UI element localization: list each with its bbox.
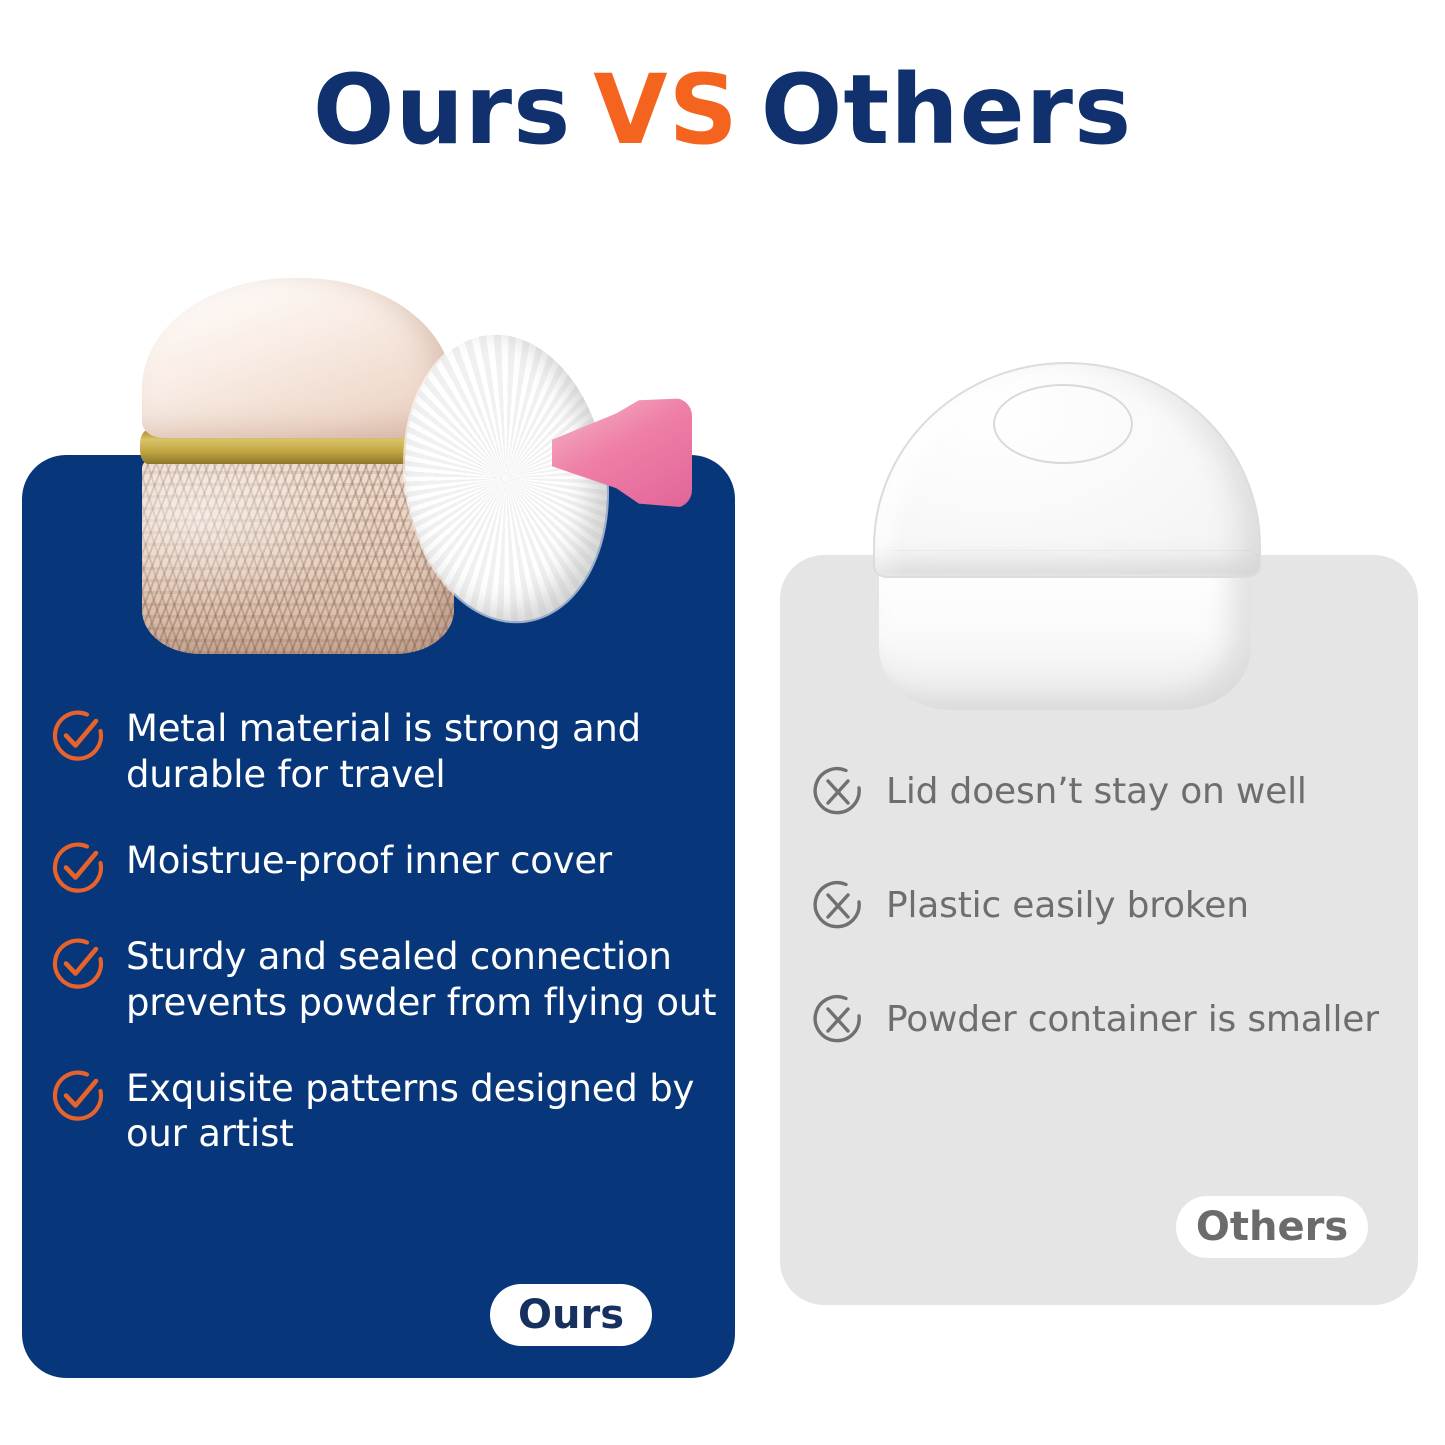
others-badge: Others — [1176, 1196, 1368, 1258]
feature-text: Metal material is strong and durable for… — [126, 706, 720, 798]
clear-dome-lid — [873, 362, 1261, 578]
feature-text: Exquisite patterns designed by our artis… — [126, 1066, 720, 1158]
x-circle-icon — [812, 766, 864, 818]
title-word-vs: VS — [593, 62, 738, 158]
title-word-others: Others — [761, 62, 1132, 158]
list-item: Metal material is strong and durable for… — [52, 706, 720, 798]
list-item: Lid doesn’t stay on well — [812, 766, 1412, 818]
ours-product-image — [120, 272, 700, 692]
plastic-base — [879, 566, 1251, 710]
list-item: Powder container is smaller — [812, 994, 1412, 1046]
others-product-image — [855, 362, 1275, 712]
x-circle-icon — [812, 880, 864, 932]
ours-badge-label: Ours — [518, 1292, 624, 1338]
feature-text: Moistrue-proof inner cover — [126, 838, 612, 884]
check-circle-icon — [52, 936, 106, 990]
check-circle-icon — [52, 708, 106, 762]
check-circle-icon — [52, 1068, 106, 1122]
ours-feature-list: Metal material is strong and durable for… — [52, 706, 720, 1157]
drawback-text: Powder container is smaller — [886, 998, 1379, 1041]
x-circle-icon — [812, 994, 864, 1046]
list-item: Sturdy and sealed connection prevents po… — [52, 934, 720, 1026]
others-badge-label: Others — [1196, 1204, 1348, 1250]
dome-emboss-oval — [993, 384, 1133, 464]
list-item: Plastic easily broken — [812, 880, 1412, 932]
ours-badge: Ours — [490, 1284, 652, 1346]
title-word-ours: Ours — [313, 62, 571, 158]
page-title: OursVSOthers — [0, 62, 1445, 158]
list-item: Moistrue-proof inner cover — [52, 838, 720, 894]
drawback-text: Lid doesn’t stay on well — [886, 770, 1307, 813]
drawback-text: Plastic easily broken — [886, 884, 1249, 927]
jar-lid — [142, 278, 452, 438]
check-circle-icon — [52, 840, 106, 894]
others-drawback-list: Lid doesn’t stay on well Plastic easily … — [812, 766, 1412, 1046]
list-item: Exquisite patterns designed by our artis… — [52, 1066, 720, 1158]
feature-text: Sturdy and sealed connection prevents po… — [126, 934, 720, 1026]
